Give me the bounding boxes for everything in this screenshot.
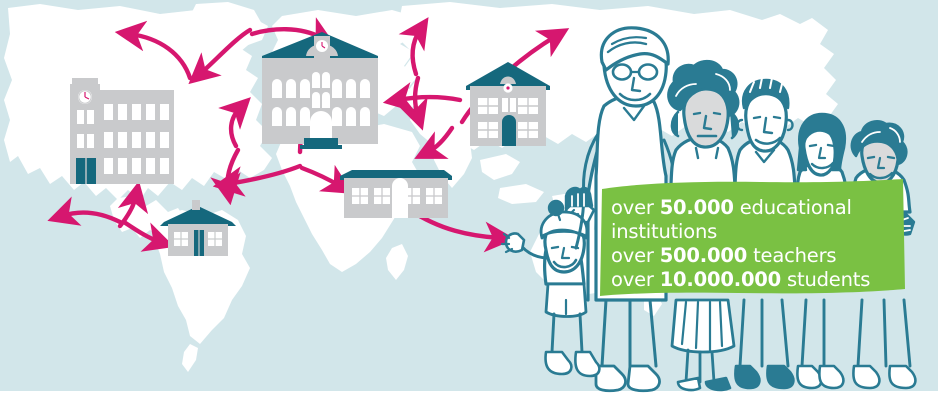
banner-line-1: over 50.000 educationalinstitutions (611, 196, 911, 244)
banner-line-1-prefix: over (611, 196, 660, 219)
banner-line-1-wrap: institutions (611, 220, 717, 243)
banner-line-3-number: 10.000.000 (660, 268, 781, 291)
banner-line-2: over 500.000 teachers (611, 244, 911, 268)
banner-line-1-suffix: educational (734, 196, 852, 219)
banner-line-2-suffix: teachers (747, 244, 836, 267)
illustration-stage: over 50.000 educationalinstitutions over… (0, 0, 938, 413)
banner-line-3-prefix: over (611, 268, 660, 291)
banner-text: over 50.000 educationalinstitutions over… (611, 196, 911, 292)
banner-line-3-suffix: students (781, 268, 870, 291)
banner-line-3: over 10.000.000 students (611, 268, 911, 292)
banner-line-1-number: 50.000 (660, 196, 734, 219)
banner-line-2-number: 500.000 (660, 244, 747, 267)
banner-line-2-prefix: over (611, 244, 660, 267)
